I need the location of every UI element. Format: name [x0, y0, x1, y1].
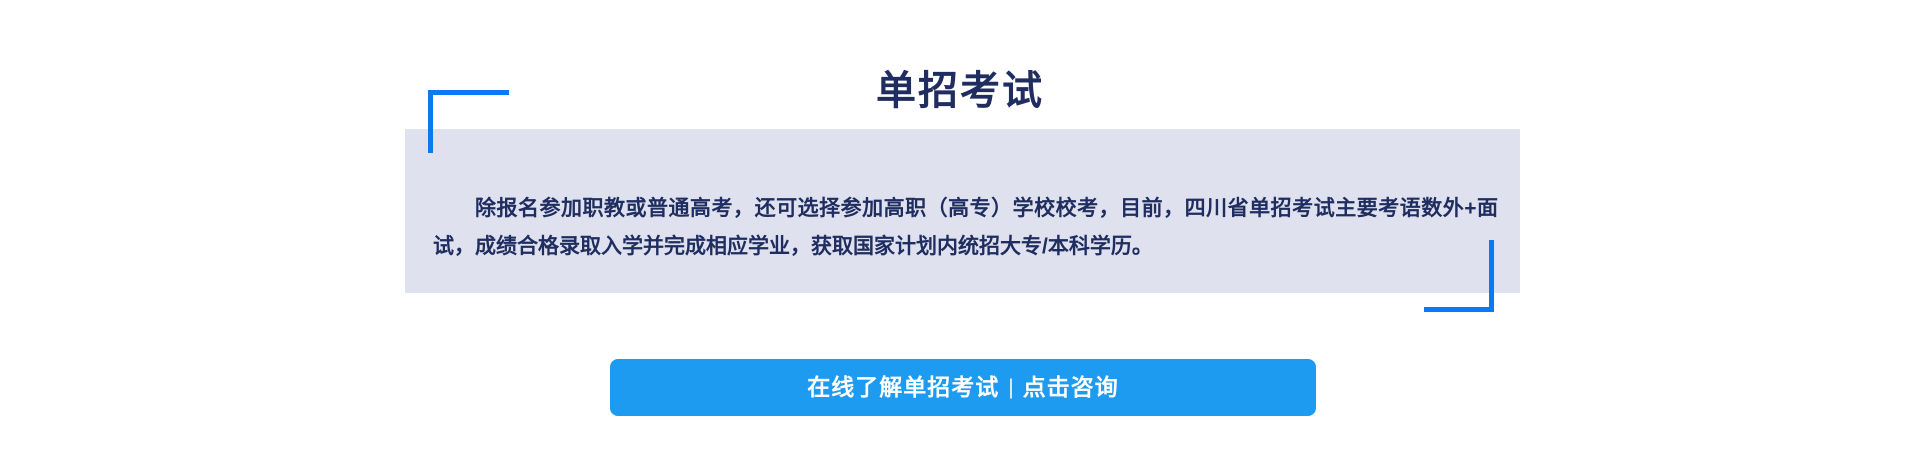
cta-divider: | — [1008, 377, 1013, 398]
page-title: 单招考试 — [0, 65, 1920, 117]
cta-secondary-label: 点击咨询 — [1023, 376, 1119, 399]
bracket-top-left-horizontal-icon — [428, 90, 509, 95]
bracket-top-left-vertical-icon — [428, 90, 433, 153]
promo-banner: 单招考试 除报名参加职教或普通高考，还可选择参加高职（高专）学校校考，目前，四川… — [0, 0, 1920, 453]
online-consult-button[interactable]: 在线了解单招考试 | 点击咨询 — [610, 359, 1316, 416]
cta-primary-label: 在线了解单招考试 — [807, 376, 999, 399]
bracket-bottom-right-horizontal-icon — [1424, 307, 1494, 312]
description-text: 除报名参加职教或普通高考，还可选择参加高职（高专）学校校考，目前，四川省单招考试… — [405, 190, 1520, 266]
